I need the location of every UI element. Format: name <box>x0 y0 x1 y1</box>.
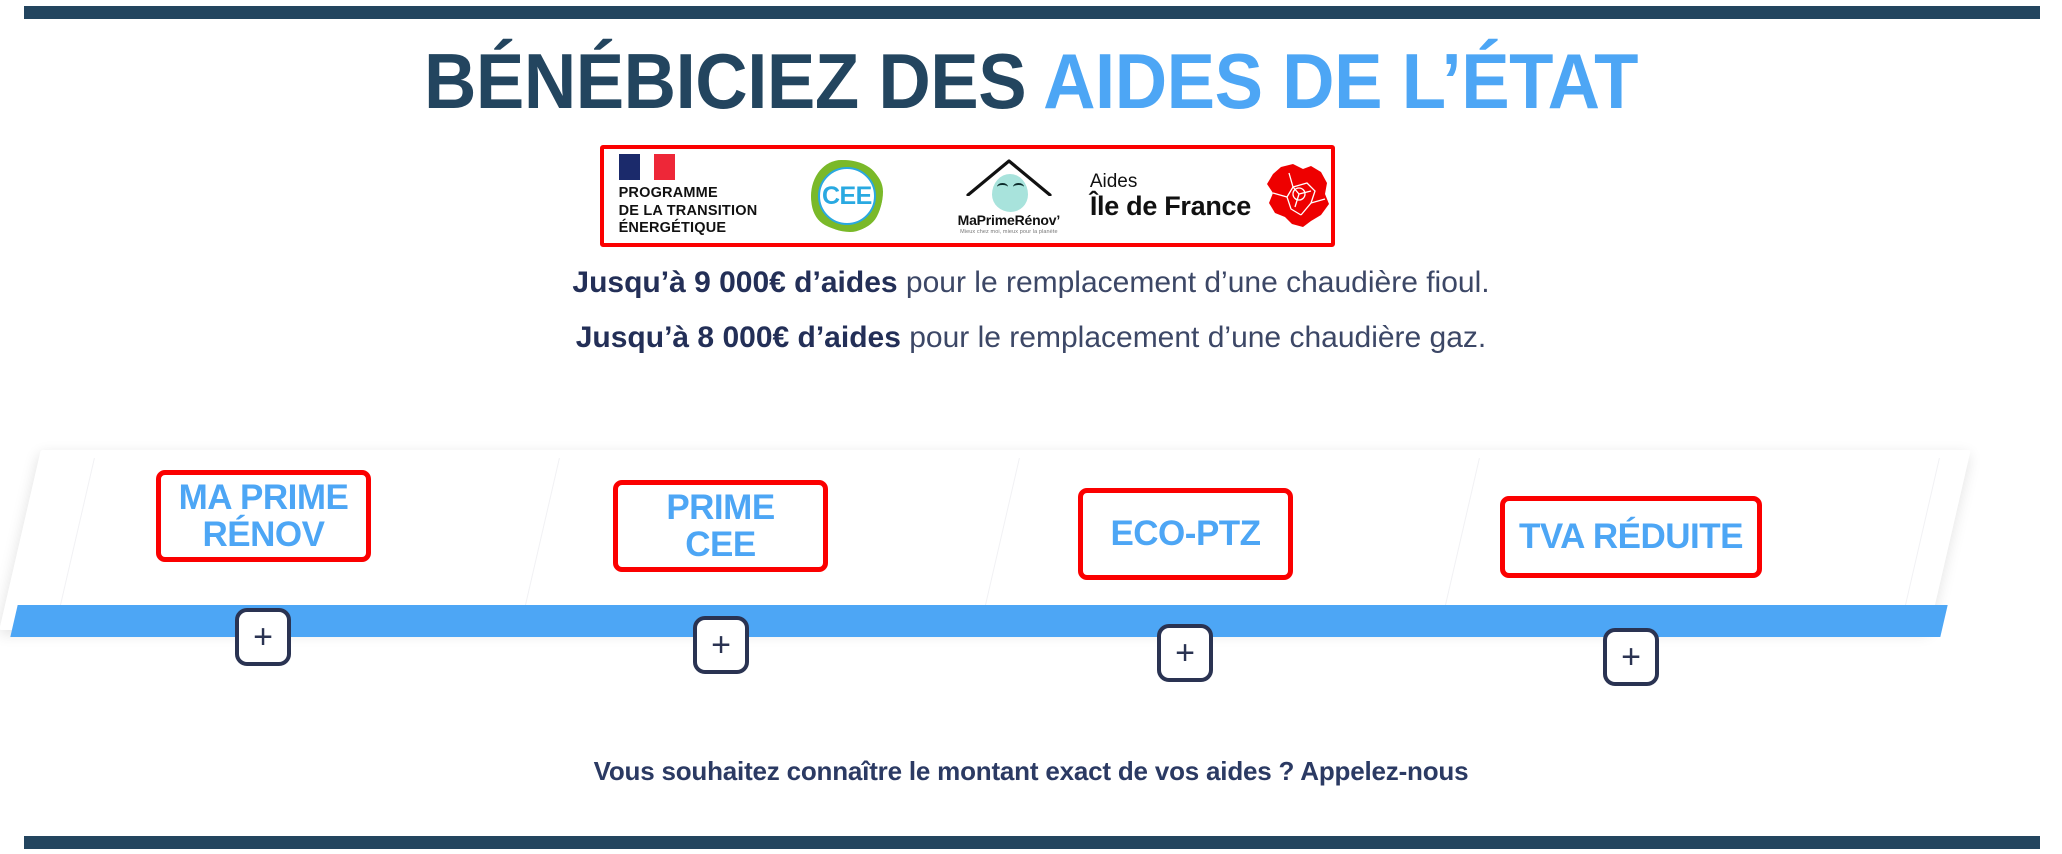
logo-maprimerenov: MaPrimeRénov’ Mieux chez moi, mieux pour… <box>928 149 1090 243</box>
page-title: BÉNÉBICIEZ DES AIDES DE L’ÉTAT <box>72 42 1990 122</box>
aid-amount-fioul-rest: pour le remplacement d’une chaudière fio… <box>898 266 1490 299</box>
page-title-dark: BÉNÉBICIEZ DES <box>424 37 1043 125</box>
call-us-text: Vous souhaitez connaître le montant exac… <box>0 756 2062 787</box>
expand-button-ma-prime-renov[interactable]: + <box>235 608 291 666</box>
expand-button-prime-cee[interactable]: + <box>693 616 749 674</box>
logo-aides-ile-de-france: Aides Île de France <box>1090 149 1331 243</box>
aid-card-label-line2: RÉNOV <box>203 515 325 554</box>
expand-button-eco-ptz[interactable]: + <box>1157 624 1213 682</box>
aid-amounts-block: Jusqu’à 9 000€ d’aides pour le remplacem… <box>0 268 2062 378</box>
aid-amount-gaz-rest: pour le remplacement d’une chaudière gaz… <box>901 321 1486 354</box>
logo-maprimerenov-label: MaPrimeRénov’ <box>958 212 1060 228</box>
aid-card-tva-reduite[interactable]: TVA RÉDUITE <box>1500 496 1762 578</box>
aid-amount-line-gaz: Jusqu’à 8 000€ d’aides pour le remplacem… <box>0 323 2062 353</box>
logo-pte-line3: ÉNERGÉTIQUE <box>619 220 758 238</box>
page-root: BÉNÉBICIEZ DES AIDES DE L’ÉTAT PROGRAMME… <box>0 0 2062 854</box>
aid-card-eco-ptz[interactable]: ECO-PTZ <box>1078 488 1293 580</box>
aids-ribbon: MA PRIME RÉNOV PRIME CEE ECO-PTZ TVA RÉD… <box>0 440 2062 670</box>
partner-logos-strip: PROGRAMME DE LA TRANSITION ÉNERGÉTIQUE C… <box>600 145 1335 247</box>
logo-idf-label-small: Aides <box>1090 172 1138 191</box>
expand-button-tva-reduite[interactable]: + <box>1603 628 1659 686</box>
logo-programme-transition-energetique: PROGRAMME DE LA TRANSITION ÉNERGÉTIQUE <box>604 149 766 243</box>
aid-card-ma-prime-renov[interactable]: MA PRIME RÉNOV <box>156 470 371 562</box>
aid-card-label-line1: TVA RÉDUITE <box>1519 517 1743 556</box>
aid-card-label-line1: ECO-PTZ <box>1110 514 1260 553</box>
logo-cee: CEE <box>766 149 928 243</box>
logo-idf-label-big: Île de France <box>1090 193 1251 220</box>
ribbon-blue-bar <box>10 605 1947 637</box>
logo-pte-line2: DE LA TRANSITION <box>619 203 758 221</box>
aid-card-prime-cee[interactable]: PRIME CEE <box>613 480 828 572</box>
top-accent-bar <box>24 6 2040 19</box>
maprimerenov-mark-icon <box>966 158 1052 210</box>
aid-amount-line-fioul: Jusqu’à 9 000€ d’aides pour le remplacem… <box>0 268 2062 298</box>
french-flag-icon <box>619 154 675 180</box>
aid-amount-fioul-bold: Jusqu’à 9 000€ d’aides <box>572 266 897 299</box>
aid-card-label-line1: PRIME <box>666 488 774 527</box>
logo-cee-label: CEE <box>822 182 872 211</box>
aid-card-label-line2: CEE <box>685 525 755 564</box>
aid-card-label-line1: MA PRIME <box>179 478 349 517</box>
aid-amount-gaz-bold: Jusqu’à 8 000€ d’aides <box>576 321 901 354</box>
logo-pte-line1: PROGRAMME <box>619 185 758 203</box>
ile-de-france-map-icon <box>1259 163 1331 229</box>
bottom-accent-bar <box>24 836 2040 849</box>
logo-maprimerenov-tagline: Mieux chez moi, mieux pour la planète <box>960 229 1058 235</box>
page-title-light: AIDES DE L’ÉTAT <box>1043 37 1638 125</box>
